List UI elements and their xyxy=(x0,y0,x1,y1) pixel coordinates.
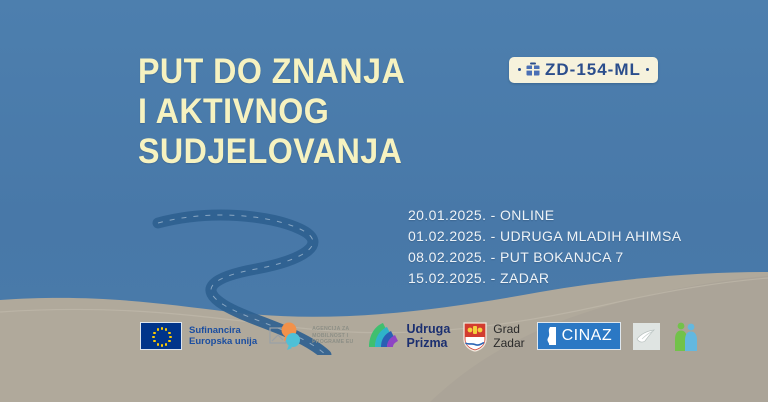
cinaz-label: CINAZ xyxy=(562,327,613,345)
schedule-row: 01.02.2025. - UDRUGA MLADIH AHIMSA xyxy=(408,226,681,247)
amp-line-2: MOBILNOST I xyxy=(312,333,353,340)
prizma-label: Udruga Prizma xyxy=(407,322,451,350)
prizma-line-1: Udruga xyxy=(407,322,451,336)
eu-star xyxy=(157,328,159,330)
title-line-1: PUT DO ZNANJA xyxy=(138,52,524,92)
grad-zadar-logo: Grad Zadar xyxy=(462,321,524,352)
zadar-line-2: Zadar xyxy=(493,336,524,350)
zadar-line-1: Grad xyxy=(493,322,524,336)
two-people-icon xyxy=(672,321,700,352)
agencija-mobilnost-logo: AGENCIJA ZA MOBILNOST I PROGRAME EU xyxy=(269,321,353,351)
partner-logo-bar: Sufinancira Europska unija AGENCIJA ZA M… xyxy=(0,313,768,359)
title-line-3: SUDJELOVANJA xyxy=(138,132,524,172)
eu-star xyxy=(169,336,171,338)
eu-star xyxy=(153,340,155,342)
eu-line-1: Sufinancira xyxy=(189,325,257,337)
cinaz-mark-icon xyxy=(542,326,558,346)
eu-star xyxy=(153,332,155,334)
plate-text: ZD-154-ML xyxy=(545,61,641,78)
eu-star xyxy=(152,336,154,338)
people-logo xyxy=(672,321,700,352)
eu-flag-icon xyxy=(140,322,182,350)
prism-fan-icon xyxy=(366,321,402,351)
amp-line-1: AGENCIJA ZA xyxy=(312,326,353,333)
eu-cofunded-label: Sufinancira Europska unija xyxy=(189,325,257,348)
eu-star xyxy=(161,344,163,346)
amp-line-3: PROGRAME EU xyxy=(312,339,353,346)
schedule-row: 08.02.2025. - PUT BOKANJCA 7 xyxy=(408,247,681,268)
eu-cofunded-logo: Sufinancira Europska unija xyxy=(140,322,257,350)
eu-star xyxy=(165,343,167,345)
schedule-list: 20.01.2025. - ONLINE 01.02.2025. - UDRUG… xyxy=(408,205,681,289)
agencija-label: AGENCIJA ZA MOBILNOST I PROGRAME EU xyxy=(312,326,353,346)
zadar-coat-of-arms-icon xyxy=(462,321,488,352)
eu-line-2: Europska unija xyxy=(189,336,257,348)
dove-icon xyxy=(636,328,658,344)
title-line-2: I AKTIVNOG xyxy=(138,92,524,132)
eu-star xyxy=(168,332,170,334)
schedule-row: 20.01.2025. - ONLINE xyxy=(408,205,681,226)
license-plate-badge: ZD-154-ML xyxy=(509,57,658,83)
zadar-label: Grad Zadar xyxy=(493,322,524,350)
udruga-prizma-logo: Udruga Prizma xyxy=(366,321,451,351)
schedule-row: 15.02.2025. - ZADAR xyxy=(408,268,681,289)
eu-star xyxy=(168,340,170,342)
plate-dot-left xyxy=(518,68,521,71)
speech-bubbles-icon xyxy=(269,321,309,351)
eu-star xyxy=(165,328,167,330)
city-crest-icon xyxy=(526,62,540,77)
poster: PUT DO ZNANJA I AKTIVNOG SUDJELOVANJA ZD… xyxy=(0,0,768,402)
eu-star xyxy=(161,327,163,329)
prizma-line-2: Prizma xyxy=(407,336,451,350)
plate-dot-right xyxy=(646,68,649,71)
page-title: PUT DO ZNANJA I AKTIVNOG SUDJELOVANJA xyxy=(138,52,524,172)
bird-logo xyxy=(633,323,660,350)
cinaz-logo: CINAZ xyxy=(537,322,622,350)
eu-star xyxy=(157,343,159,345)
